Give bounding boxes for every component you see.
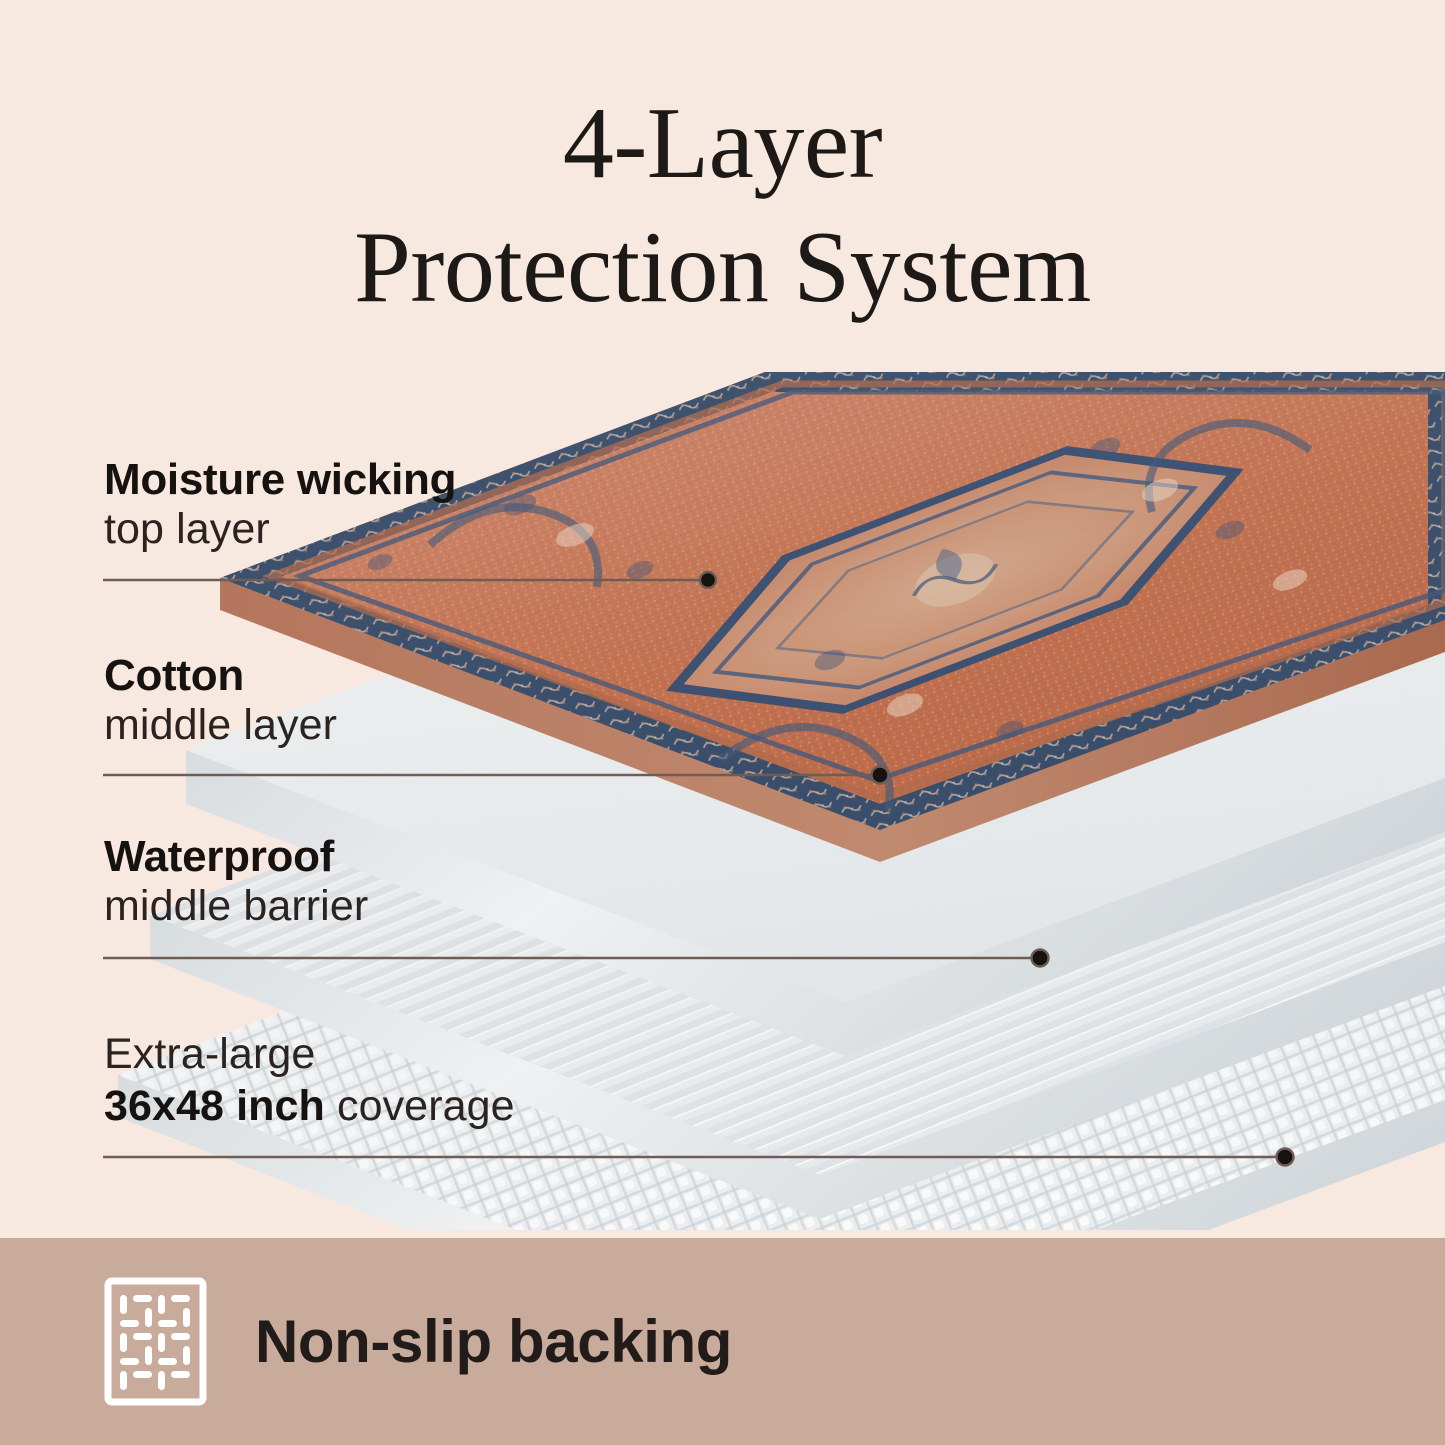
layer-moisture-wicking-rug [220, 372, 1445, 862]
leader-dot-2 [872, 767, 889, 784]
callout-moisture-wicking: Moisture wicking top layer [104, 455, 456, 556]
non-slip-banner: Non-slip backing [0, 1238, 1445, 1445]
page-title-line-2: Protection System [0, 206, 1445, 330]
layer-cotton-middle [186, 542, 1445, 1056]
leader-dot-1 [700, 572, 716, 588]
layer-waterproof-barrier [150, 702, 1445, 1219]
callout-3-subtitle: middle barrier [104, 881, 368, 933]
callout-2-title: Cotton [104, 651, 337, 700]
callout-1-title: Moisture wicking [104, 455, 456, 504]
callout-1-subtitle: top layer [104, 504, 456, 556]
callout-3-title: Waterproof [104, 832, 368, 881]
non-slip-banner-label: Non-slip backing [255, 1307, 732, 1376]
page-title-line-1: 4-Layer [0, 82, 1445, 206]
infographic-canvas: 4-Layer Protection System [0, 0, 1445, 1445]
leader-dot-4 [1277, 1149, 1294, 1166]
callout-4-subtitle: 36x48 inch coverage [104, 1081, 515, 1133]
callout-4-dimensions: 36x48 inch [104, 1082, 325, 1130]
non-slip-weave-icon [104, 1277, 207, 1406]
callout-waterproof: Waterproof middle barrier [104, 832, 368, 933]
callout-extra-large: Extra-large 36x48 inch coverage [104, 1029, 515, 1132]
leader-dot-3 [1032, 950, 1049, 967]
callout-2-subtitle: middle layer [104, 700, 337, 752]
callout-4-coverage-word: coverage [325, 1082, 515, 1130]
page-title: 4-Layer Protection System [0, 82, 1445, 331]
callout-4-title: Extra-large [104, 1029, 515, 1081]
callout-cotton: Cotton middle layer [104, 651, 337, 752]
